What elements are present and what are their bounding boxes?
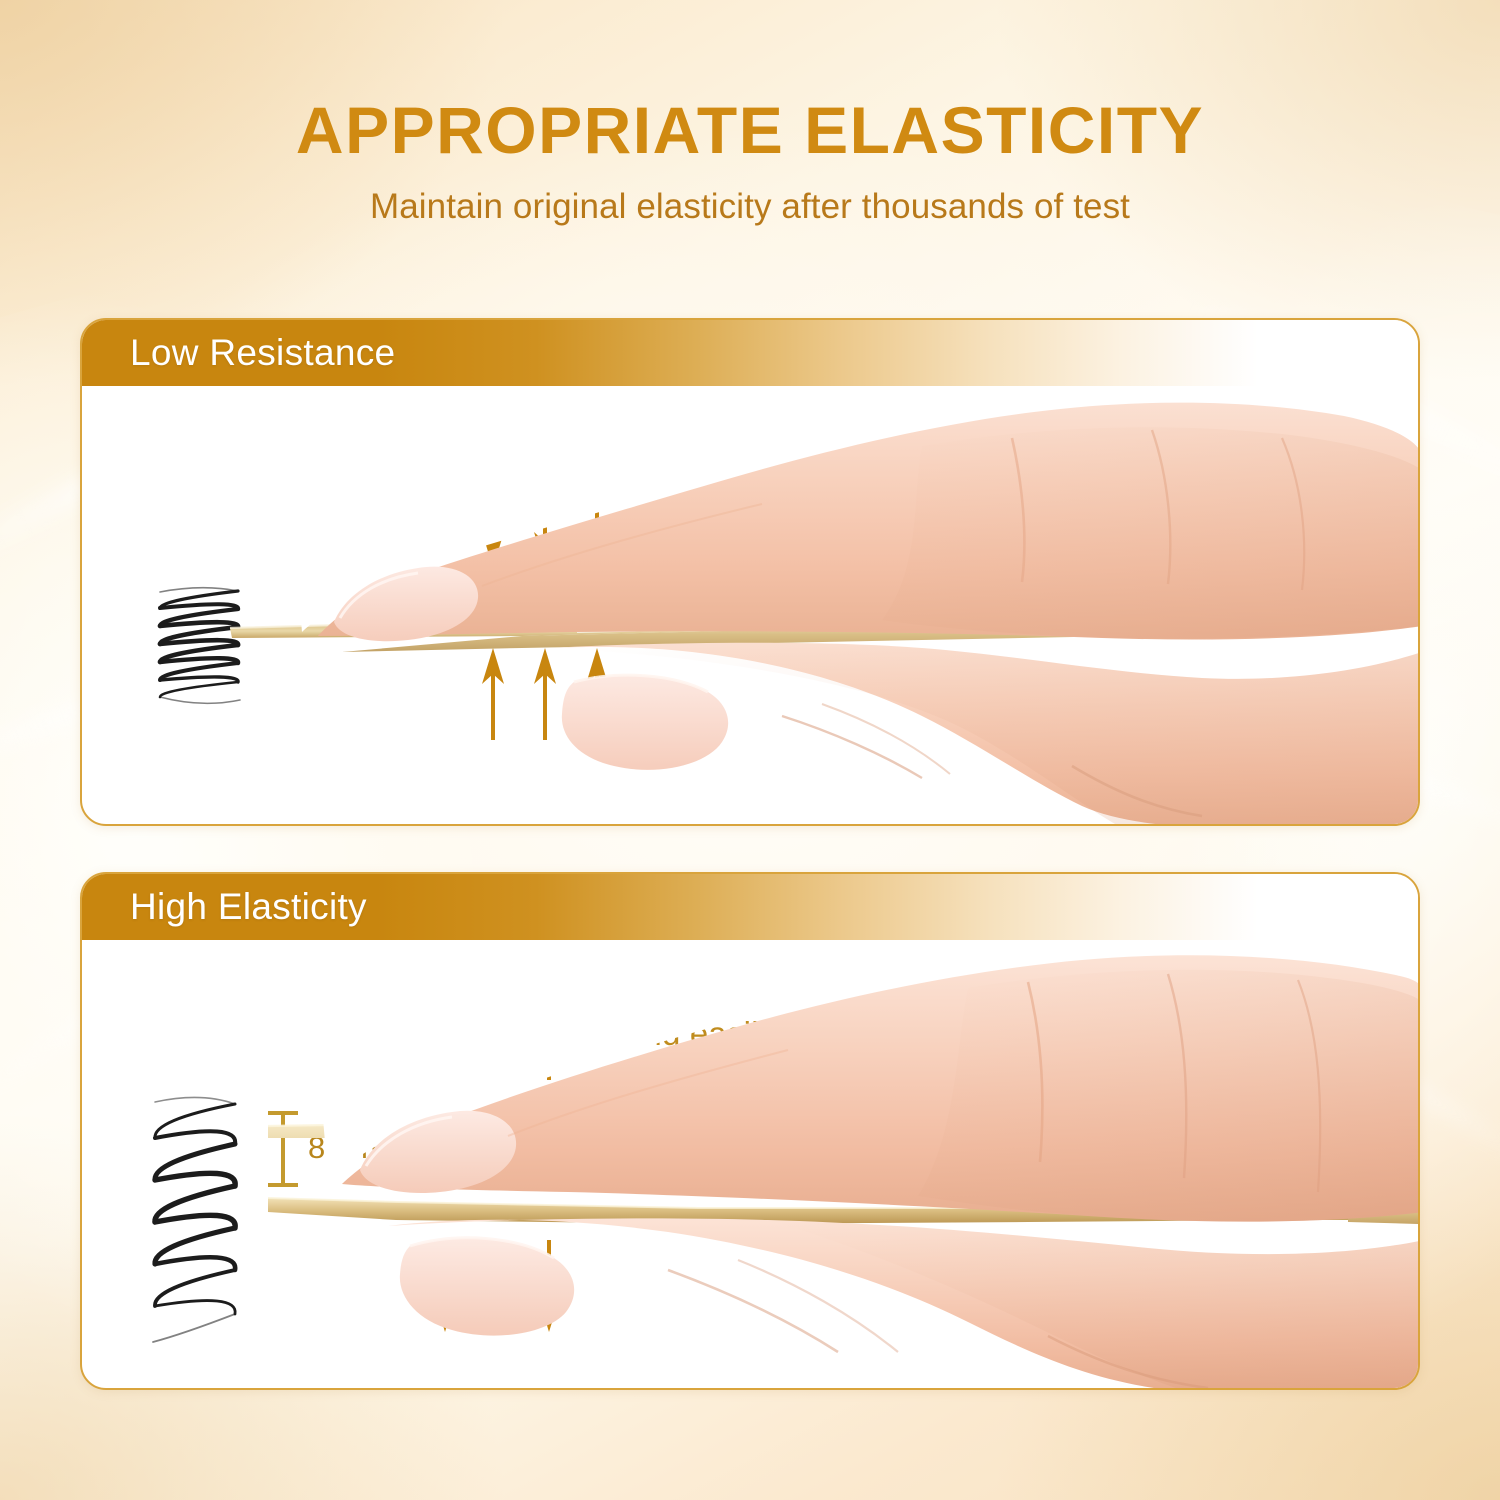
page-subtitle: Maintain original elasticity after thous… [0,187,1500,227]
card-title-low-resistance: Low Resistance [82,332,395,374]
card-header-high-elasticity: High Elasticity [82,874,1418,940]
hand-index-finger-2 [308,940,1420,1222]
card-body-high-elasticity: rebound easily 8mm [82,940,1418,1388]
card-high-elasticity: High Elasticity [80,872,1420,1390]
hand-holding-closed-tweezers-photo [222,386,1420,826]
page-header: APPROPRIATE ELASTICITY Maintain original… [0,96,1500,227]
card-low-resistance: Low Resistance [80,318,1420,826]
hand-holding-open-tweezers-photo [268,940,1420,1390]
page-title: APPROPRIATE ELASTICITY [0,96,1500,165]
card-body-low-resistance [82,386,1418,824]
hand-index-finger [282,386,1420,641]
card-title-high-elasticity: High Elasticity [82,886,367,928]
hand-lower-fingers [552,643,1420,826]
extended-spring-icon [127,1090,257,1360]
hand-lower-fingers-2 [388,1218,1420,1390]
card-header-low-resistance: Low Resistance [82,320,1418,386]
